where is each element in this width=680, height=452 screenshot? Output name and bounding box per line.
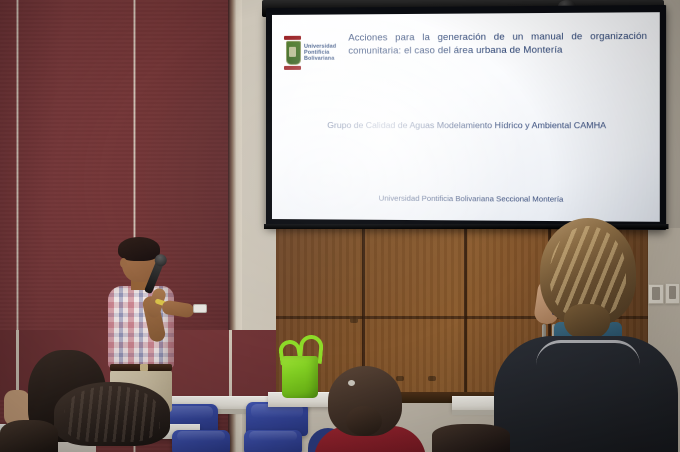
panel-seam	[229, 330, 232, 400]
person-center-front	[312, 366, 426, 452]
sweater-neckline	[536, 340, 640, 365]
cabinet-door-divider	[464, 228, 467, 403]
slide-surface: Universidad Pontificia Bolivariana Accio…	[272, 12, 660, 222]
ponytail	[564, 304, 610, 340]
slide-title: Acciones para la generación de un manual…	[348, 30, 647, 57]
hair	[432, 424, 510, 452]
cabinet-knob[interactable]	[350, 318, 358, 323]
hair-clip	[348, 380, 355, 386]
logo-wordmark: Universidad Pontificia Bolivariana	[304, 43, 336, 62]
belt-buckle	[140, 364, 148, 371]
person-far-left	[0, 420, 60, 452]
presentation-clicker[interactable]	[193, 304, 207, 313]
crest-icon	[284, 36, 301, 70]
slide-university: Universidad Pontificia Bolivariana Secci…	[308, 193, 637, 204]
hair-highlights	[64, 386, 160, 442]
person-bottom-right	[432, 424, 512, 452]
logo-line-3: Bolivariana	[304, 56, 336, 62]
upb-crest-logo: Universidad Pontificia Bolivariana	[284, 35, 342, 71]
hair-bun	[346, 406, 382, 436]
slide-research-group: Grupo de Calidad de Aguas Modelamiento H…	[308, 119, 626, 132]
person-left-front	[44, 382, 194, 452]
chair[interactable]	[244, 430, 302, 452]
presentation-room-photo: Universidad Pontificia Bolivariana Accio…	[0, 0, 680, 452]
woman-foreground-right	[492, 218, 680, 452]
projection-screen: Universidad Pontificia Bolivariana Accio…	[266, 5, 666, 230]
hair	[0, 420, 58, 452]
cabinet-knob[interactable]	[428, 376, 436, 381]
presenter-ear	[120, 258, 127, 268]
